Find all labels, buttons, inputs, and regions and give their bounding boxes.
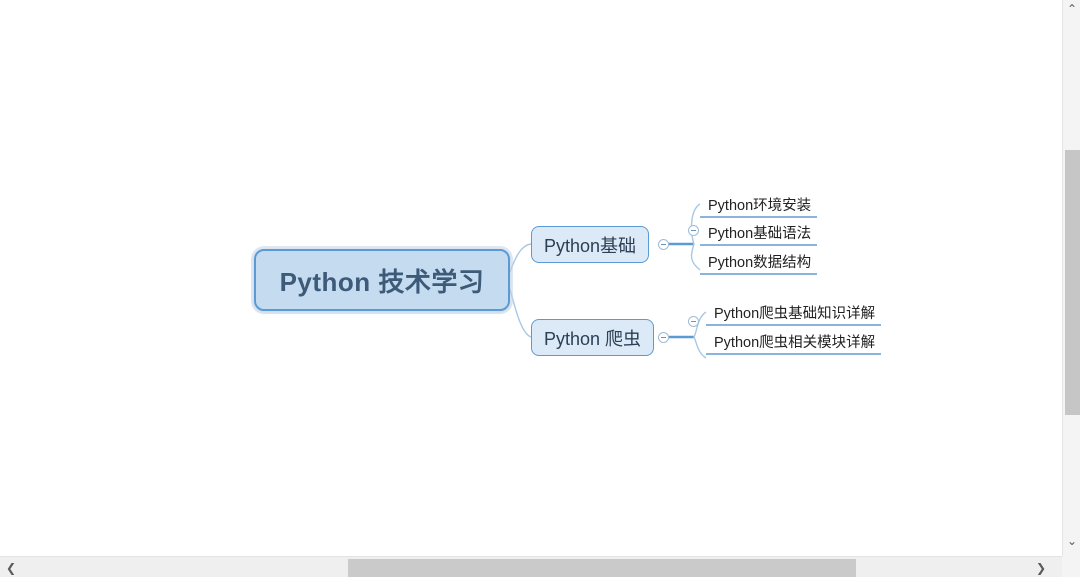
leaf-node-label: Python爬虫相关模块详解 — [714, 331, 875, 352]
chevron-right-glyph: ❯ — [1036, 562, 1046, 574]
collapse-minus-icon[interactable] — [658, 239, 669, 250]
root-node-label: Python 技术学习 — [280, 262, 485, 299]
scrollbar-corner — [1062, 556, 1080, 577]
edge-root-to-branch-1 — [510, 289, 531, 337]
collapse-minus-icon[interactable] — [658, 332, 669, 343]
mindmap-branch-node-python-basics[interactable]: Python基础 — [531, 226, 649, 263]
leaf-node-label: Python环境安装 — [708, 194, 811, 215]
mindmap-leaf-node[interactable]: Python爬虫相关模块详解 — [706, 329, 881, 355]
edge-branch-0-bracket — [692, 204, 700, 270]
mindmap-leaf-node[interactable]: Python环境安装 — [700, 192, 817, 218]
chevron-left-icon[interactable]: ❮ — [2, 557, 20, 577]
mindmap-app: Python 技术学习 Python基础 Python 爬虫 Python环境安… — [0, 0, 1080, 577]
mindmap-leaf-node[interactable]: Python爬虫基础知识详解 — [706, 300, 881, 326]
chevron-down-glyph: ⌄ — [1067, 535, 1077, 547]
connector-edges — [0, 0, 1062, 556]
mindmap-leaf-node[interactable]: Python基础语法 — [700, 220, 817, 246]
mindmap-branch-node-python-crawler[interactable]: Python 爬虫 — [531, 319, 654, 356]
chevron-left-glyph: ❮ — [6, 562, 16, 574]
leaf-node-label: Python数据结构 — [708, 251, 811, 272]
chevron-right-icon[interactable]: ❯ — [1032, 557, 1050, 577]
horizontal-scrollbar[interactable]: ❮ ❯ — [0, 556, 1062, 577]
mindmap-root-node[interactable]: Python 技术学习 — [254, 249, 510, 311]
chevron-up-glyph: ⌃ — [1067, 3, 1077, 15]
collapse-minus-icon[interactable] — [688, 316, 699, 327]
vertical-scrollbar[interactable]: ⌃ ⌄ — [1062, 0, 1080, 556]
chevron-up-icon[interactable]: ⌃ — [1063, 0, 1080, 18]
collapse-minus-icon[interactable] — [688, 225, 699, 236]
vertical-scrollbar-thumb[interactable] — [1065, 150, 1080, 415]
chevron-down-icon[interactable]: ⌄ — [1063, 532, 1080, 550]
leaf-node-label: Python基础语法 — [708, 222, 811, 243]
branch-node-label: Python 爬虫 — [544, 325, 641, 351]
horizontal-scrollbar-thumb[interactable] — [348, 559, 856, 577]
edge-root-to-branch-0 — [510, 244, 531, 272]
leaf-node-label: Python爬虫基础知识详解 — [714, 302, 875, 323]
mindmap-canvas[interactable]: Python 技术学习 Python基础 Python 爬虫 Python环境安… — [0, 0, 1062, 556]
branch-node-label: Python基础 — [544, 232, 636, 258]
mindmap-leaf-node[interactable]: Python数据结构 — [700, 249, 817, 275]
